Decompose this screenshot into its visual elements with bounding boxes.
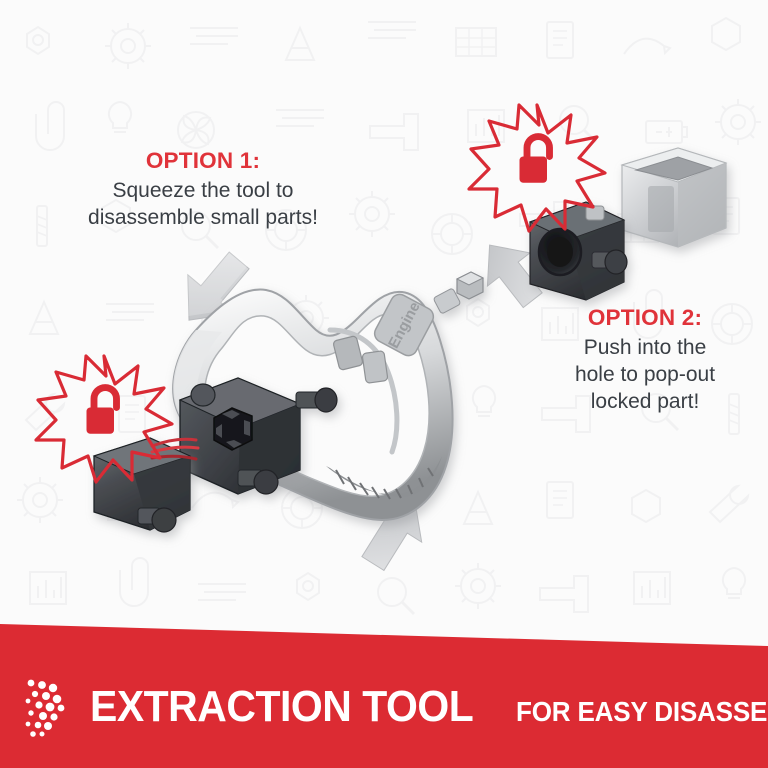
clamp-side-bolt-right	[296, 388, 337, 412]
arrow-right-icon	[468, 228, 554, 316]
badge-left-starburst	[36, 356, 172, 482]
right-bracket-part	[622, 148, 726, 247]
embossed-label-text: Engine	[385, 299, 423, 351]
arrow-lower-left-icon	[347, 481, 439, 579]
bottom-banner: EXTRACTION TOOL FOR EASY DISASSEMBLY	[0, 604, 768, 768]
tool-grip-ribs	[326, 456, 442, 499]
callout-option-2-body: Push into the hole to pop-out locked par…	[532, 334, 758, 416]
dot-chevron-logo-icon	[22, 675, 74, 739]
banner-title: EXTRACTION TOOL	[90, 682, 473, 732]
connector-wires	[152, 439, 198, 459]
badge-right-starburst	[469, 105, 605, 231]
callout-option-1-body: Squeeze the tool to disassemble small pa…	[42, 177, 364, 232]
right-connector-part	[530, 202, 627, 300]
left-connector-part	[94, 438, 190, 532]
center-clamp-head-part	[180, 378, 337, 494]
open-padlock-icon	[520, 137, 550, 183]
clamp-spline-socket	[214, 408, 252, 450]
tool-adjuster-screw	[433, 272, 483, 314]
infographic-canvas: Engine	[0, 0, 768, 768]
clamp-side-bolt-bottom	[238, 470, 278, 494]
open-padlock-icon	[87, 388, 117, 434]
tool-embossed-label: Engine	[371, 291, 436, 359]
arrow-upper-left-icon	[164, 237, 264, 340]
callout-option-2: OPTION 2: Push into the hole to pop-out …	[532, 305, 758, 416]
callout-option-1: OPTION 1: Squeeze the tool to disassembl…	[42, 148, 364, 231]
callout-option-2-title: OPTION 2:	[532, 305, 758, 331]
banner-subtitle: FOR EASY DISASSEMBLY	[516, 696, 768, 728]
extraction-tool-part: Engine	[173, 272, 483, 520]
callout-option-1-title: OPTION 1:	[42, 148, 364, 174]
